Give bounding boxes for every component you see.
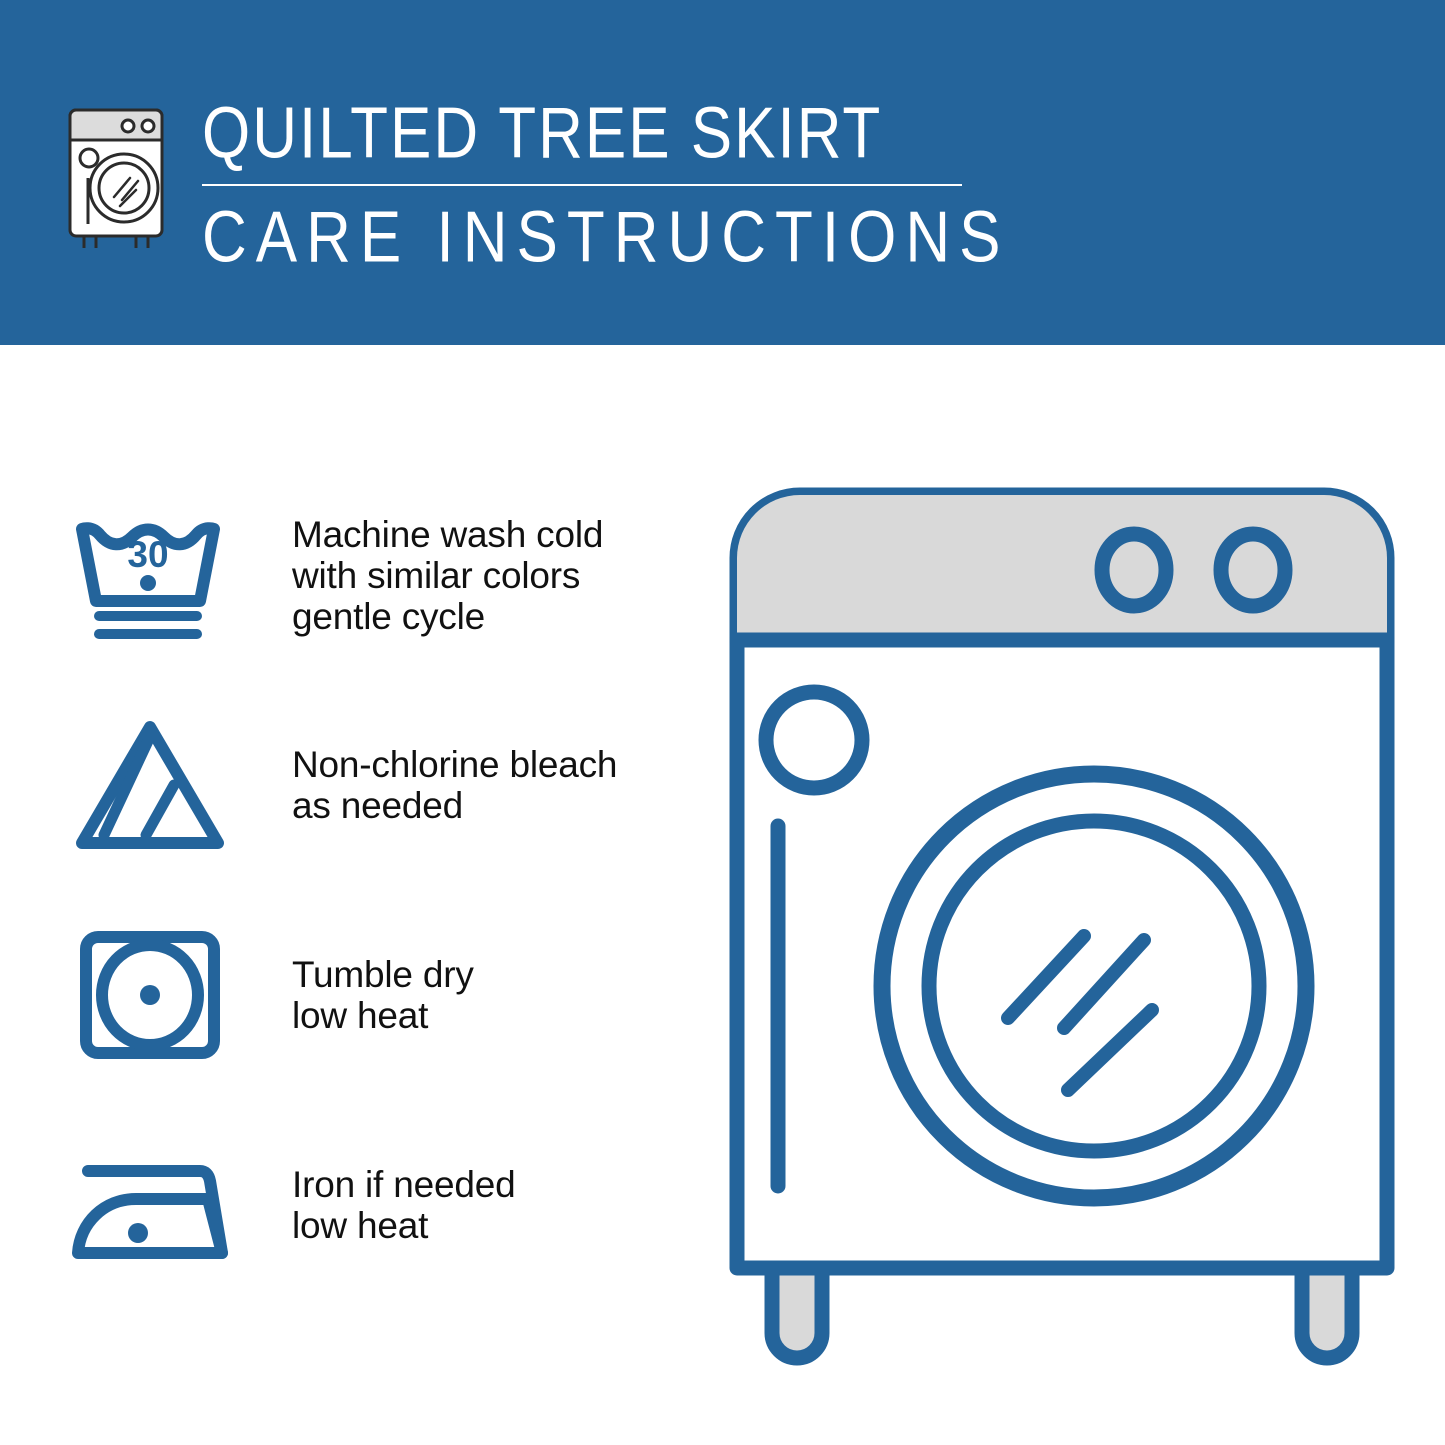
wash-temperature-label: 30 [127, 534, 168, 575]
title-divider [202, 184, 962, 186]
care-instructions-list: 30 Machine wash cold with similar colors… [70, 470, 690, 1310]
care-row-wash: 30 Machine wash cold with similar colors… [70, 470, 690, 680]
washer-leg-left [772, 1265, 822, 1358]
washing-machine-illustration [712, 470, 1412, 1370]
care-label-tumble-dry: Tumble dry low heat [230, 954, 690, 1036]
care-row-tumble-dry: Tumble dry low heat [70, 890, 690, 1100]
non-chlorine-bleach-triangle-icon [70, 705, 230, 865]
washing-machine-logo-icon [62, 102, 180, 254]
iron-low-heat-icon [70, 1125, 230, 1285]
page-subtitle: CARE INSTRUCTIONS [202, 200, 1009, 277]
header-title-block: QUILTED TREE SKIRT CARE INSTRUCTIONS [202, 96, 1009, 266]
header-banner: QUILTED TREE SKIRT CARE INSTRUCTIONS [0, 0, 1445, 345]
care-instructions-page: QUILTED TREE SKIRT CARE INSTRUCTIONS 30 [0, 0, 1445, 1445]
washer-leg-right [1302, 1265, 1352, 1358]
page-title: QUILTED TREE SKIRT [202, 96, 1009, 173]
wash-tub-30-icon: 30 [70, 495, 230, 655]
care-row-iron: Iron if needed low heat [70, 1100, 690, 1310]
care-label-wash: Machine wash cold with similar colors ge… [230, 514, 690, 637]
care-label-iron: Iron if needed low heat [230, 1164, 690, 1246]
header-content: QUILTED TREE SKIRT CARE INSTRUCTIONS [62, 96, 1009, 266]
tumble-dry-low-icon [70, 915, 230, 1075]
care-label-bleach: Non-chlorine bleach as needed [230, 744, 690, 826]
care-row-bleach: Non-chlorine bleach as needed [70, 680, 690, 890]
